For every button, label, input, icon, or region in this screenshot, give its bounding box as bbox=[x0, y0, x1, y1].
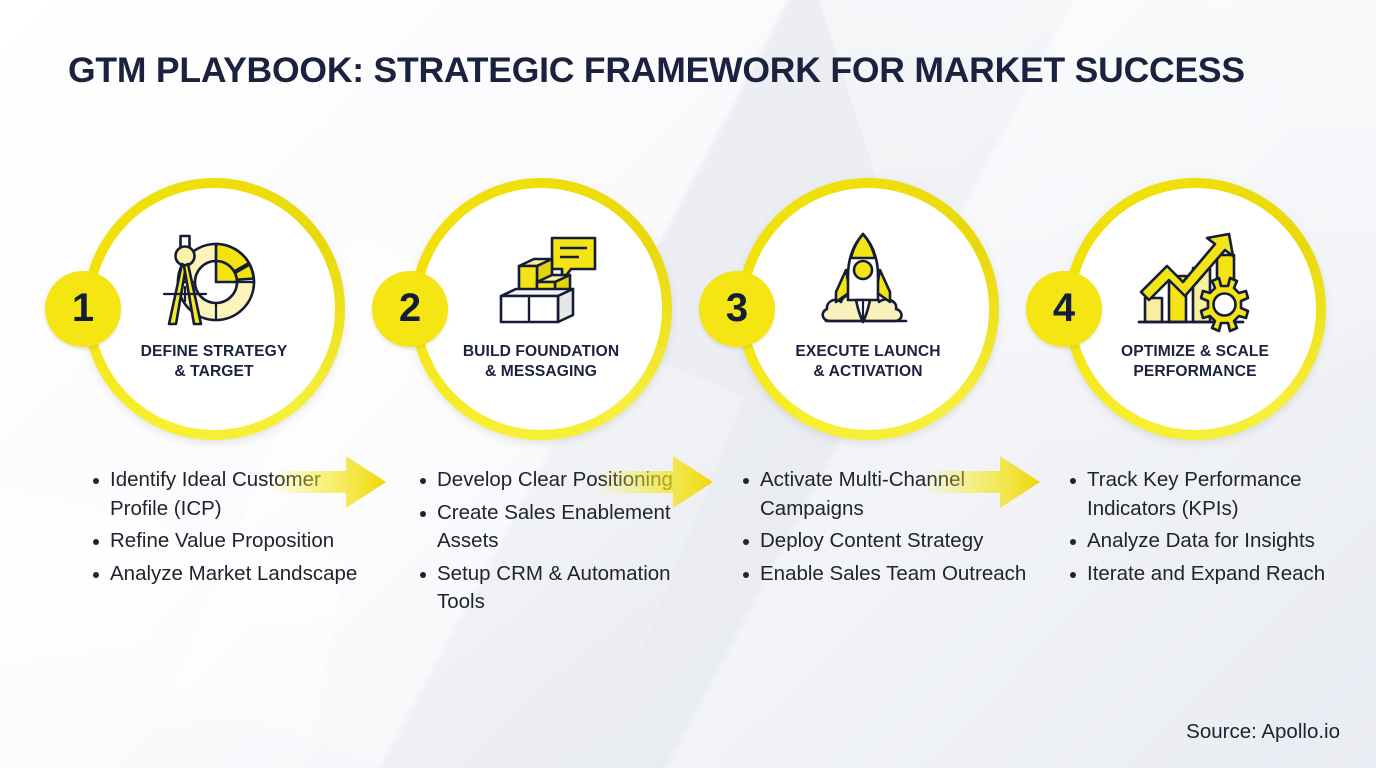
step-label-2-line1: BUILD FOUNDATION bbox=[436, 342, 646, 362]
growth-chart-gear-icon bbox=[1129, 230, 1261, 334]
infographic-canvas: GTM PLAYBOOK: STRATEGIC FRAMEWORK FOR MA… bbox=[0, 0, 1376, 768]
steps-row: DEFINE STRATEGY & TARGET 1 bbox=[0, 178, 1376, 446]
step-content-4: OPTIMIZE & SCALE PERFORMANCE bbox=[1074, 188, 1316, 430]
step-number-1: 1 bbox=[72, 288, 94, 328]
step-number-badge-1: 1 bbox=[45, 271, 121, 347]
list-item: Refine Value Proposition bbox=[110, 527, 368, 556]
list-item: Analyze Market Landscape bbox=[110, 560, 368, 589]
building-blocks-speech-bubble-icon bbox=[475, 230, 607, 334]
step-number-badge-3: 3 bbox=[699, 271, 775, 347]
list-item: Enable Sales Team Outreach bbox=[760, 560, 1030, 589]
step-card-2[interactable]: BUILD FOUNDATION & MESSAGING 2 bbox=[410, 178, 672, 440]
step-label-3-line2: & ACTIVATION bbox=[763, 362, 973, 382]
step-label-3: EXECUTE LAUNCH & ACTIVATION bbox=[763, 342, 973, 382]
bullet-list-4: Track Key Performance Indicators (KPIs) … bbox=[1065, 466, 1365, 588]
step-number-2: 2 bbox=[399, 288, 421, 328]
step-content-1: DEFINE STRATEGY & TARGET bbox=[93, 188, 335, 430]
step-label-4-line1: OPTIMIZE & SCALE bbox=[1090, 342, 1300, 362]
step-label-3-line1: EXECUTE LAUNCH bbox=[763, 342, 973, 362]
step-number-badge-4: 4 bbox=[1026, 271, 1102, 347]
bullet-column-4: Track Key Performance Indicators (KPIs) … bbox=[1065, 466, 1365, 592]
source-attribution: Source: Apollo.io bbox=[1186, 720, 1340, 744]
step-label-2-line2: & MESSAGING bbox=[436, 362, 646, 382]
step-content-2: BUILD FOUNDATION & MESSAGING bbox=[420, 188, 662, 430]
step-number-4: 4 bbox=[1053, 288, 1075, 328]
rocket-launch-icon bbox=[802, 230, 934, 334]
page-title: GTM PLAYBOOK: STRATEGIC FRAMEWORK FOR MA… bbox=[68, 50, 1245, 91]
list-item: Iterate and Expand Reach bbox=[1087, 560, 1365, 589]
list-item: Setup CRM & Automation Tools bbox=[437, 560, 695, 617]
step-label-1: DEFINE STRATEGY & TARGET bbox=[109, 342, 319, 382]
step-card-3[interactable]: EXECUTE LAUNCH & ACTIVATION 3 bbox=[737, 178, 999, 440]
list-item: Analyze Data for Insights bbox=[1087, 527, 1365, 556]
compass-pie-chart-icon bbox=[148, 230, 280, 334]
step-number-3: 3 bbox=[726, 288, 748, 328]
step-label-4-line2: PERFORMANCE bbox=[1090, 362, 1300, 382]
arrow-step3-to-step4 bbox=[922, 454, 1040, 510]
step-content-3: EXECUTE LAUNCH & ACTIVATION bbox=[747, 188, 989, 430]
step-label-1-line2: & TARGET bbox=[109, 362, 319, 382]
list-item: Track Key Performance Indicators (KPIs) bbox=[1087, 466, 1365, 523]
step-label-2: BUILD FOUNDATION & MESSAGING bbox=[436, 342, 646, 382]
list-item: Deploy Content Strategy bbox=[760, 527, 1030, 556]
step-card-4[interactable]: OPTIMIZE & SCALE PERFORMANCE 4 bbox=[1064, 178, 1326, 440]
step-label-1-line1: DEFINE STRATEGY bbox=[109, 342, 319, 362]
step-number-badge-2: 2 bbox=[372, 271, 448, 347]
step-card-1[interactable]: DEFINE STRATEGY & TARGET 1 bbox=[83, 178, 345, 440]
step-label-4: OPTIMIZE & SCALE PERFORMANCE bbox=[1090, 342, 1300, 382]
arrow-step1-to-step2 bbox=[268, 454, 386, 510]
arrow-step2-to-step3 bbox=[595, 454, 713, 510]
